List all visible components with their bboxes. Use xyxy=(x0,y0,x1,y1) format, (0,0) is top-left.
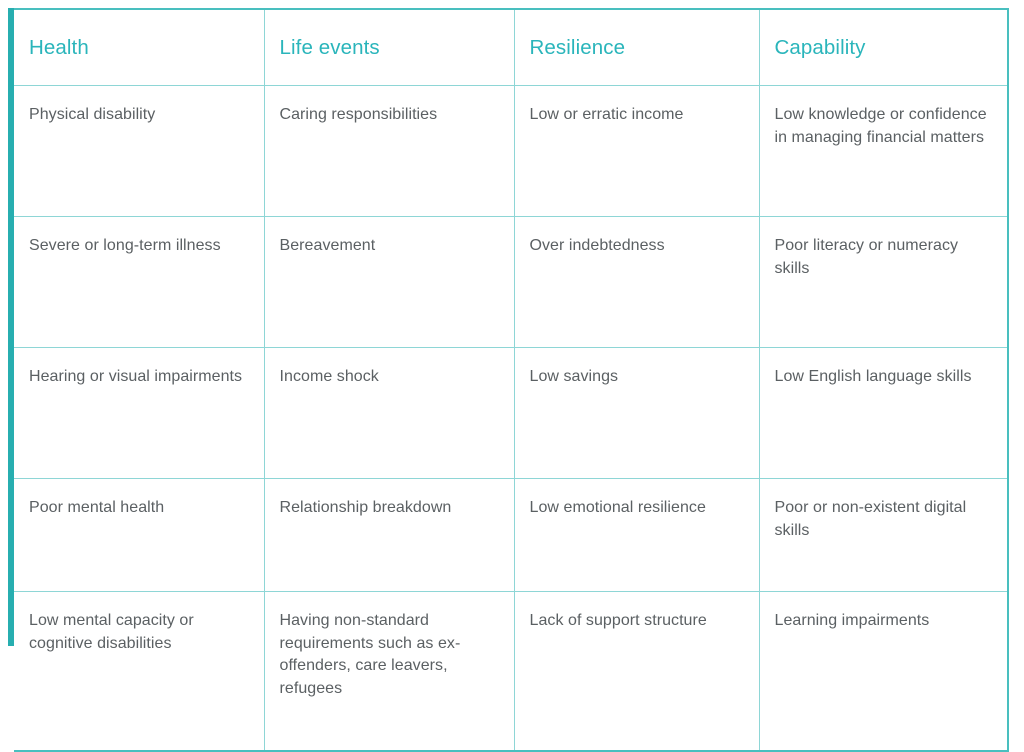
cell-capability: Poor or non-existent digital skills xyxy=(759,479,1008,592)
cell-text: Poor literacy or numeracy skills xyxy=(775,235,990,280)
cell-health: Poor mental health xyxy=(14,479,264,592)
cell-text: Physical disability xyxy=(29,104,246,127)
vulnerability-table-container: Health Life events Resilience Capability… xyxy=(8,8,1008,646)
cell-health: Physical disability xyxy=(14,86,264,217)
table-header-row: Health Life events Resilience Capability xyxy=(14,9,1008,86)
vulnerability-characteristics-table: Health Life events Resilience Capability… xyxy=(14,8,1009,752)
cell-life-events: Bereavement xyxy=(264,217,514,348)
cell-health: Low mental capacity or cognitive disabil… xyxy=(14,592,264,752)
column-header-resilience: Resilience xyxy=(514,9,759,86)
cell-text: Relationship breakdown xyxy=(280,497,496,520)
cell-resilience: Low or erratic income xyxy=(514,86,759,217)
cell-text: Low emotional resilience xyxy=(530,497,741,520)
cell-text: Lack of support structure xyxy=(530,610,741,633)
cell-text: Low mental capacity or cognitive disabil… xyxy=(29,610,246,655)
column-header-life-events: Life events xyxy=(264,9,514,86)
cell-capability: Learning impairments xyxy=(759,592,1008,752)
cell-text: Severe or long-term illness xyxy=(29,235,246,258)
cell-text: Bereavement xyxy=(280,235,496,258)
table-header: Health Life events Resilience Capability xyxy=(14,9,1008,86)
table-body: Physical disability Caring responsibilit… xyxy=(14,86,1008,752)
cell-health: Severe or long-term illness xyxy=(14,217,264,348)
column-header-health: Health xyxy=(14,9,264,86)
cell-text: Caring responsibilities xyxy=(280,104,496,127)
cell-text: Learning impairments xyxy=(775,610,990,633)
cell-text: Poor or non-existent digital skills xyxy=(775,497,990,542)
table-row: Physical disability Caring responsibilit… xyxy=(14,86,1008,217)
cell-text: Low knowledge or confidence in managing … xyxy=(775,104,990,149)
table-row: Low mental capacity or cognitive disabil… xyxy=(14,592,1008,752)
cell-text: Income shock xyxy=(280,366,496,389)
cell-text: Having non-standard requirements such as… xyxy=(280,610,496,700)
cell-capability: Poor literacy or numeracy skills xyxy=(759,217,1008,348)
cell-life-events: Income shock xyxy=(264,348,514,479)
table-row: Hearing or visual impairments Income sho… xyxy=(14,348,1008,479)
cell-text: Low English language skills xyxy=(775,366,990,389)
table-row: Severe or long-term illness Bereavement … xyxy=(14,217,1008,348)
cell-resilience: Low emotional resilience xyxy=(514,479,759,592)
cell-resilience: Low savings xyxy=(514,348,759,479)
cell-life-events: Having non-standard requirements such as… xyxy=(264,592,514,752)
cell-resilience: Over indebtedness xyxy=(514,217,759,348)
table-row: Poor mental health Relationship breakdow… xyxy=(14,479,1008,592)
cell-life-events: Caring responsibilities xyxy=(264,86,514,217)
cell-text: Hearing or visual impairments xyxy=(29,366,246,389)
cell-text: Low savings xyxy=(530,366,741,389)
cell-capability: Low English language skills xyxy=(759,348,1008,479)
cell-life-events: Relationship breakdown xyxy=(264,479,514,592)
cell-text: Poor mental health xyxy=(29,497,246,520)
cell-health: Hearing or visual impairments xyxy=(14,348,264,479)
cell-text: Over indebtedness xyxy=(530,235,741,258)
cell-text: Low or erratic income xyxy=(530,104,741,127)
column-header-capability: Capability xyxy=(759,9,1008,86)
cell-capability: Low knowledge or confidence in managing … xyxy=(759,86,1008,217)
cell-resilience: Lack of support structure xyxy=(514,592,759,752)
